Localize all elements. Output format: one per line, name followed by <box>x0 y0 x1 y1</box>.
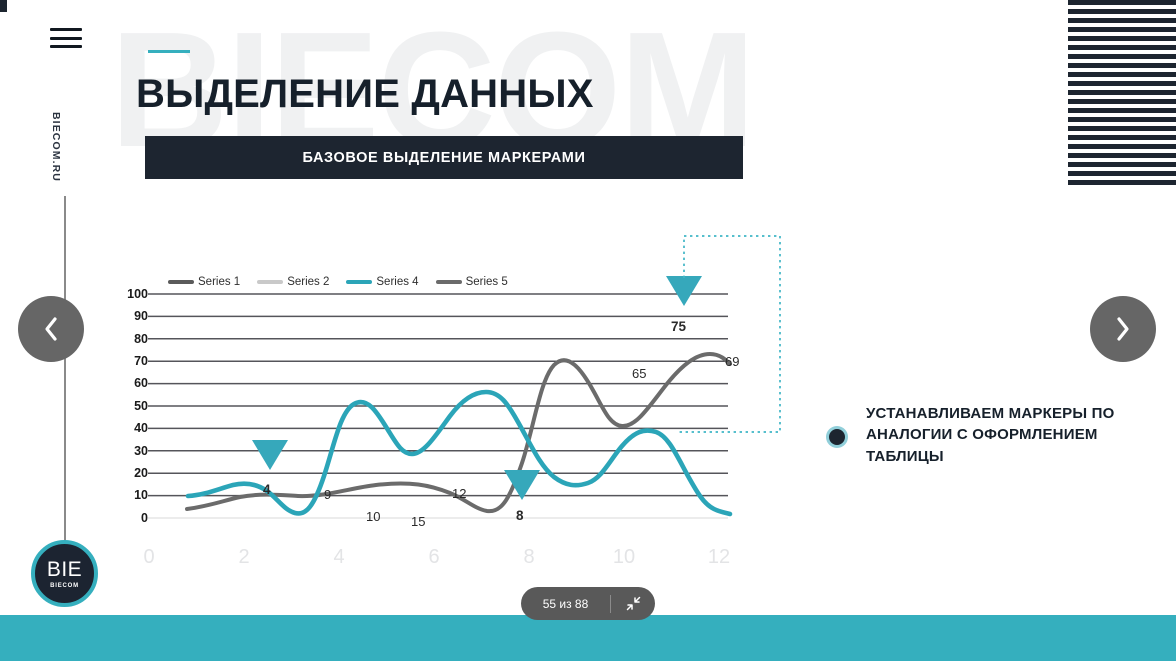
callout-endpoint-dot <box>829 429 845 445</box>
slide-player-controls: 55 из 88 <box>521 587 655 620</box>
legend-item-series-1[interactable]: Series 1 <box>168 276 240 288</box>
chevron-left-icon <box>41 315 61 343</box>
legend-label-series-2: Series 2 <box>287 276 329 288</box>
brand-logo-badge[interactable]: BIE BIECOM <box>31 540 98 607</box>
callout-text: УСТАНАВЛИВАЕМ МАРКЕРЫ ПО АНАЛОГИИ С ОФОР… <box>866 403 1166 467</box>
stripe-decoration <box>1068 0 1176 186</box>
page-title: ВЫДЕЛЕНИЕ ДАННЫХ <box>136 72 594 117</box>
prev-slide-button[interactable] <box>18 296 84 362</box>
left-edge-strip <box>0 0 7 12</box>
title-accent-dash <box>148 50 190 53</box>
collapse-arrows-icon <box>626 596 641 611</box>
legend-label-series-4: Series 4 <box>376 276 418 288</box>
marker-series4-low[interactable] <box>252 440 288 470</box>
callout-connector-line <box>670 232 850 447</box>
chart-plot-area <box>110 280 760 580</box>
legend-swatch-series-4 <box>346 280 372 283</box>
marker-series5-low[interactable] <box>504 470 540 500</box>
legend-swatch-series-1 <box>168 280 194 283</box>
brand-url-vertical: BIECOM.RU <box>50 112 62 182</box>
subtitle-text: БАЗОВОЕ ВЫДЕЛЕНИЕ МАРКЕРАМИ <box>302 150 585 166</box>
hamburger-line-2 <box>50 37 82 40</box>
bottom-teal-band <box>0 615 1176 661</box>
legend-item-series-2[interactable]: Series 2 <box>257 276 329 288</box>
next-slide-button[interactable] <box>1090 296 1156 362</box>
hamburger-line-3 <box>50 45 82 48</box>
legend-swatch-series-2 <box>257 280 283 283</box>
legend-label-series-5: Series 5 <box>466 276 508 288</box>
legend-item-series-4[interactable]: Series 4 <box>346 276 418 288</box>
chevron-right-icon <box>1113 315 1133 343</box>
legend-label-series-1: Series 1 <box>198 276 240 288</box>
hamburger-line-1 <box>50 28 82 31</box>
logo-sub-text: BIECOM <box>50 583 79 589</box>
subtitle-banner: БАЗОВОЕ ВЫДЕЛЕНИЕ МАРКЕРАМИ <box>145 136 743 179</box>
sidebar-divider-line <box>64 196 66 548</box>
legend-item-series-5[interactable]: Series 5 <box>436 276 508 288</box>
hamburger-icon[interactable] <box>50 28 82 48</box>
collapse-icon[interactable] <box>611 596 655 611</box>
legend-swatch-series-5 <box>436 280 462 283</box>
slide-canvas: BIECOM BIECOM.RU BIE BIECOM ВЫДЕЛЕНИЕ ДА… <box>0 0 1176 661</box>
logo-main-text: BIE <box>47 559 82 580</box>
chart-legend: Series 1 Series 2 Series 4 Series 5 <box>168 276 508 288</box>
line-chart <box>110 280 760 580</box>
slide-counter: 55 из 88 <box>521 597 610 611</box>
